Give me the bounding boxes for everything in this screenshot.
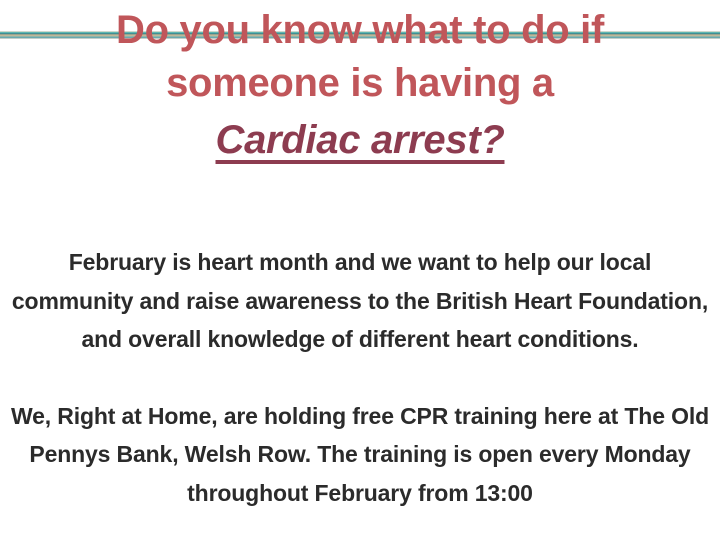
heading-line-1: Do you know what to do if xyxy=(0,4,720,57)
heading-block: Do you know what to do if someone is hav… xyxy=(0,4,720,170)
heading-line-2: someone is having a xyxy=(0,57,720,110)
slide-canvas: Do you know what to do if someone is hav… xyxy=(0,0,720,540)
heading-line-3-emphasis: Cardiac arrest? xyxy=(0,110,720,170)
body-block: February is heart month and we want to h… xyxy=(8,243,712,512)
paragraph-spacer xyxy=(8,359,712,397)
body-paragraph-1: February is heart month and we want to h… xyxy=(8,243,712,359)
body-paragraph-2: We, Right at Home, are holding free CPR … xyxy=(8,397,712,513)
